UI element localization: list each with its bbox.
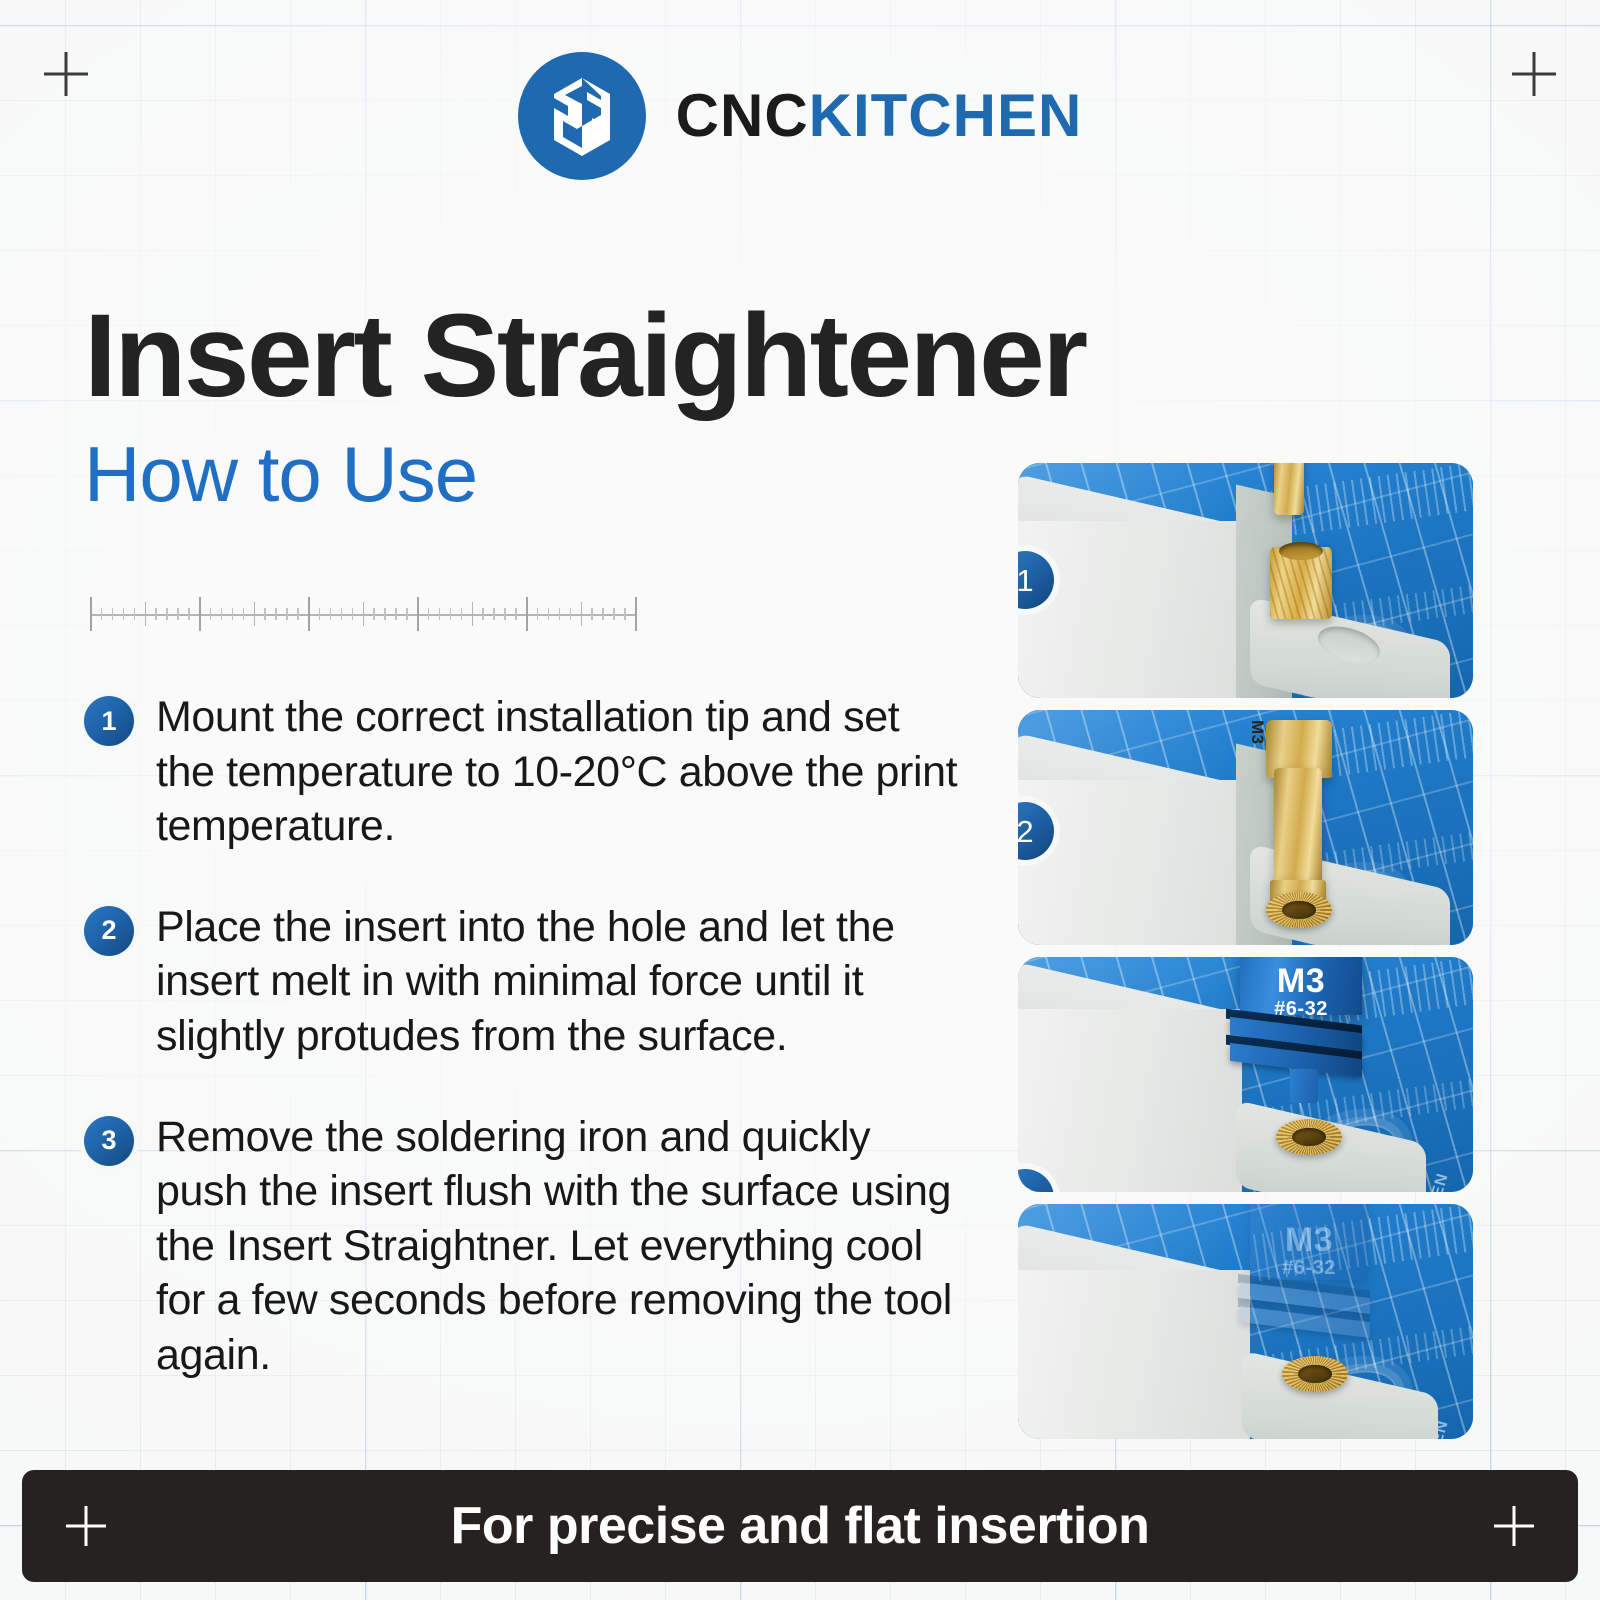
step-item-2: 2 Place the insert into the hole and let…	[84, 900, 964, 1064]
insert-straightener-body: M3 #6-32	[1250, 1204, 1368, 1280]
step-text-2: Place the insert into the hole and let t…	[156, 900, 964, 1064]
ruler-tick-minor	[461, 608, 463, 620]
bottom-banner: For precise and flat insertion	[22, 1470, 1578, 1582]
brand-header: CNCKITCHEN	[0, 52, 1600, 180]
brand-wordmark: CNCKITCHEN	[676, 86, 1083, 146]
ruler-tick-major	[526, 597, 528, 631]
tool-label-line-1: M3	[1240, 963, 1362, 999]
ruler-tick-minor	[493, 608, 495, 620]
ruler-tick-major	[417, 597, 419, 631]
steps-list: 1 Mount the correct installation tip and…	[84, 690, 964, 1383]
ruler-tick-minor	[101, 608, 103, 620]
ruler-tick-minor	[275, 608, 277, 620]
ruler-tick-minor	[319, 608, 321, 620]
ruler-tick-minor	[537, 608, 539, 620]
ruler-tick-minor	[264, 608, 266, 620]
ruler-tick-major	[635, 597, 637, 631]
ruler-tick-mid	[363, 602, 365, 626]
step-item-3: 3 Remove the soldering iron and quickly …	[84, 1110, 964, 1383]
insert-straightener-body: M3 #6-32	[1240, 957, 1362, 1015]
ruler-tick-mid	[145, 602, 147, 626]
ruler-tick-minor	[166, 608, 168, 620]
soldering-iron-shaft	[1274, 768, 1322, 888]
step-badge-2: 2	[84, 906, 134, 956]
wordmark-cnc: CNC	[676, 86, 809, 146]
ruler-tick-minor	[591, 608, 593, 620]
step-badge-3: 3	[84, 1116, 134, 1166]
photo-step-2: CNCKITCHEN M3 2	[1018, 710, 1473, 945]
ruler-tick-minor	[297, 608, 299, 620]
photo-step-3-detail: CNCKITCHEN M3 #6-32	[1018, 1204, 1473, 1439]
ruler-tick-minor	[624, 608, 626, 620]
ruler-tick-minor	[439, 608, 441, 620]
ruler-tick-minor	[482, 608, 484, 620]
ruler-tick-mid	[581, 602, 583, 626]
ruler-tick-minor	[112, 608, 114, 620]
soldering-iron-shaft	[1274, 463, 1304, 515]
ruler-tick-minor	[221, 608, 223, 620]
cnc-kitchen-cube-icon	[518, 52, 646, 180]
step-text-3: Remove the soldering iron and quickly pu…	[156, 1110, 964, 1383]
tool-label-line-1: M3	[1250, 1222, 1368, 1258]
brass-heat-set-insert-flush	[1282, 1356, 1348, 1392]
tip-size-label: M3	[1248, 720, 1266, 745]
ruler-tick-major	[90, 597, 92, 631]
ruler-tick-minor	[395, 608, 397, 620]
crosshair-registration-mark-top-left	[44, 52, 88, 96]
ruler-tick-minor	[548, 608, 550, 620]
ruler-tick-minor	[373, 608, 375, 620]
ruler-tick-minor	[341, 608, 343, 620]
ruler-tick-major	[308, 597, 310, 631]
crosshair-registration-mark-bottom-left	[66, 1506, 106, 1546]
photo-stack: CNCKITCHEN 1 CNCKITCHEN	[1018, 463, 1473, 1439]
ruler-tick-minor	[570, 608, 572, 620]
tool-label-line-2: #6-32	[1250, 1258, 1368, 1279]
ruler-tick-minor	[134, 608, 136, 620]
measurement-ruler-decoration	[90, 595, 635, 633]
insert-straightener-pin	[1290, 1069, 1318, 1103]
headline-block: Insert Straightener How to Use	[84, 300, 1086, 513]
ruler-tick-minor	[188, 608, 190, 620]
photo-step-1: CNCKITCHEN 1	[1018, 463, 1473, 698]
ruler-tick-mid	[254, 602, 256, 626]
ruler-tick-mid	[472, 602, 474, 626]
ruler-tick-minor	[384, 608, 386, 620]
photo-step-3: CNCKITCHEN M3 #6-32 3	[1018, 957, 1473, 1192]
brass-heat-set-insert	[1276, 1119, 1342, 1155]
wordmark-kitchen: KITCHEN	[809, 86, 1083, 146]
tool-size-label: M3 #6-32	[1250, 1222, 1368, 1279]
ruler-tick-minor	[504, 608, 506, 620]
printed-part-front-face	[1018, 780, 1262, 945]
page-title: Insert Straightener	[84, 300, 1086, 413]
banner-tagline: For precise and flat insertion	[451, 1496, 1150, 1556]
crosshair-registration-mark-top-right	[1512, 52, 1556, 96]
step-badge-1: 1	[84, 696, 134, 746]
printed-part-front-face	[1018, 1009, 1242, 1192]
ruler-tick-minor	[450, 608, 452, 620]
ruler-tick-minor	[515, 608, 517, 620]
step-text-1: Mount the correct installation tip and s…	[156, 690, 964, 854]
ruler-tick-minor	[155, 608, 157, 620]
ruler-tick-minor	[613, 608, 615, 620]
ruler-tick-minor	[559, 608, 561, 620]
brass-heat-set-insert	[1266, 892, 1332, 928]
step-item-1: 1 Mount the correct installation tip and…	[84, 690, 964, 854]
ruler-tick-minor	[352, 608, 354, 620]
ruler-tick-minor	[243, 608, 245, 620]
brass-heat-set-insert	[1270, 547, 1332, 619]
ruler-tick-minor	[232, 608, 234, 620]
crosshair-registration-mark-bottom-right	[1494, 1506, 1534, 1546]
ruler-tick-major	[199, 597, 201, 631]
ruler-tick-minor	[123, 608, 125, 620]
ruler-tick-minor	[210, 608, 212, 620]
printed-part-front-face	[1018, 521, 1262, 698]
page-subtitle: How to Use	[84, 435, 1086, 513]
ruler-tick-minor	[177, 608, 179, 620]
poster-canvas: CNCKITCHEN Insert Straightener How to Us…	[0, 0, 1600, 1600]
ruler-tick-minor	[286, 608, 288, 620]
ruler-tick-minor	[330, 608, 332, 620]
ruler-tick-minor	[428, 608, 430, 620]
ruler-tick-minor	[602, 608, 604, 620]
ruler-tick-minor	[406, 608, 408, 620]
printed-part-front-face	[1018, 1270, 1250, 1439]
